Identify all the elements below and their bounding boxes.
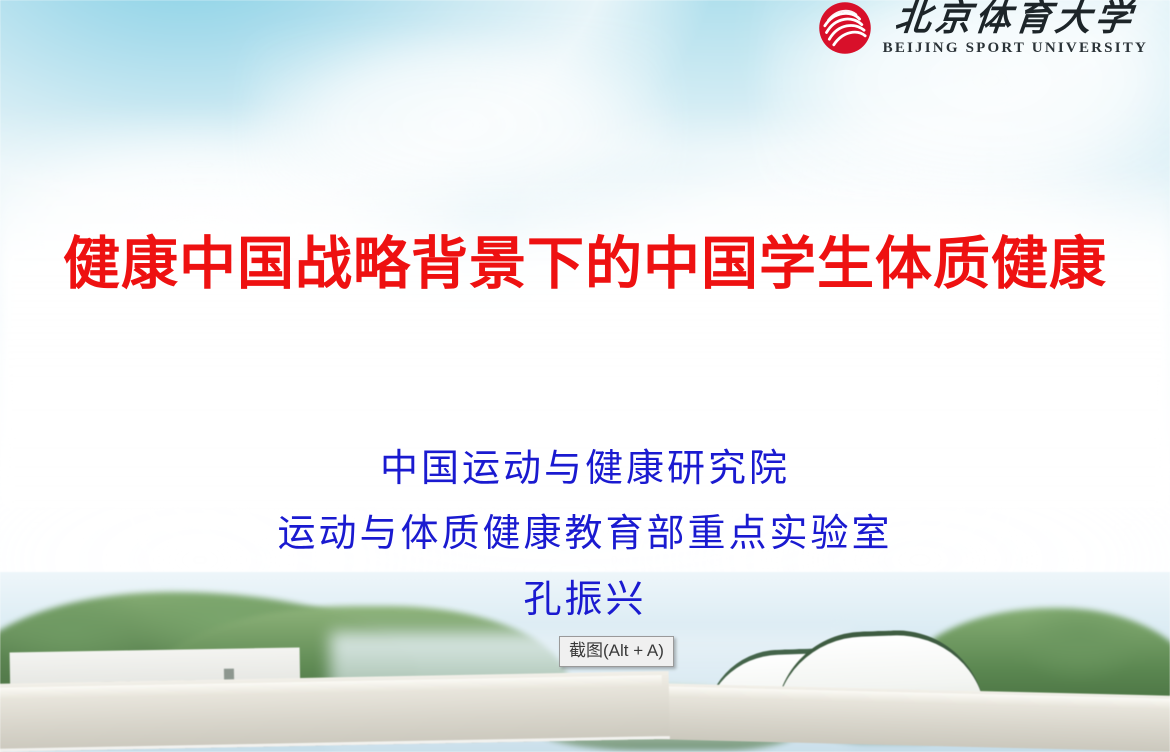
affiliation-laboratory: 运动与体质健康教育部重点实验室 — [0, 502, 1170, 567]
slide-title: 健康中国战略背景下的中国学生体质健康 — [0, 234, 1170, 296]
affiliation-institute: 中国运动与健康研究院 — [0, 437, 1170, 502]
logo-name-en: BEIJING SPORT UNIVERSITY — [883, 41, 1148, 56]
presentation-slide: 北京体育大学 BEIJING SPORT UNIVERSITY 健康中国战略背景… — [0, 0, 1170, 752]
logo-name-cn: 北京体育大学 — [893, 0, 1137, 36]
screenshot-tooltip: 截图(Alt + A) — [559, 636, 674, 667]
slide-subtitle-block: 中国运动与健康研究院 运动与体质健康教育部重点实验室 孔振兴 — [0, 437, 1170, 633]
logo-wordmark: 北京体育大学 BEIJING SPORT UNIVERSITY — [883, 0, 1148, 56]
presenter-name: 孔振兴 — [0, 568, 1170, 633]
bsu-emblem-icon — [817, 0, 873, 56]
university-logo: 北京体育大学 BEIJING SPORT UNIVERSITY — [817, 0, 1148, 56]
